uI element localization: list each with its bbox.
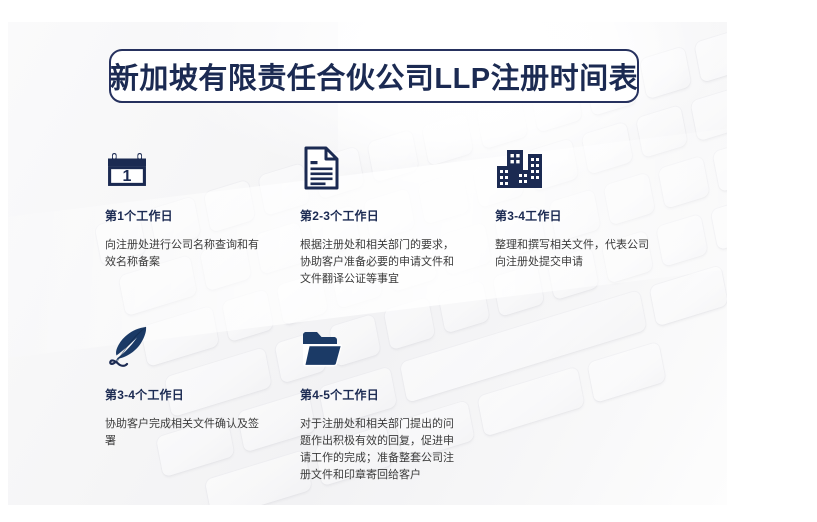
calendar-icon: 1 bbox=[105, 139, 300, 191]
timeline-step-1[interactable]: 1 第1个工作日 向注册处进行公司名称查询和有效名称备案 bbox=[105, 139, 300, 288]
page-title: 新加坡有限责任合伙公司LLP注册时间表 bbox=[110, 55, 638, 97]
document-icon bbox=[300, 139, 495, 191]
step-heading: 第3-4个工作日 bbox=[105, 386, 300, 403]
feather-pen-icon bbox=[105, 318, 300, 370]
step-body: 协助客户完成相关文件确认及签署 bbox=[105, 416, 265, 450]
timeline-row-2: 第3-4个工作日 协助客户完成相关文件确认及签署 第4-5个工作日 对于注册处和… bbox=[105, 318, 705, 484]
timeline-step-3[interactable]: 第3-4工作日 整理和撰写相关文件，代表公司向注册处提交申请 bbox=[495, 139, 690, 288]
timeline-step-placeholder bbox=[495, 318, 690, 484]
folder-icon bbox=[300, 318, 495, 370]
step-heading: 第2-3个工作日 bbox=[300, 207, 495, 224]
step-body: 向注册处进行公司名称查询和有效名称备案 bbox=[105, 237, 265, 271]
step-body: 根据注册处和相关部门的要求，协助客户准备必要的申请文件和文件翻译公证等事宜 bbox=[300, 237, 460, 288]
step-heading: 第3-4工作日 bbox=[495, 207, 690, 224]
timeline-step-5[interactable]: 第4-5个工作日 对于注册处和相关部门提出的问题作出积极有效的回复，促进申请工作… bbox=[300, 318, 495, 484]
page-title-box: 新加坡有限责任合伙公司LLP注册时间表 bbox=[109, 49, 639, 103]
step-body: 整理和撰写相关文件，代表公司向注册处提交申请 bbox=[495, 237, 655, 271]
timeline-step-2[interactable]: 第2-3个工作日 根据注册处和相关部门的要求，协助客户准备必要的申请文件和文件翻… bbox=[300, 139, 495, 288]
timeline-row-1: 1 第1个工作日 向注册处进行公司名称查询和有效名称备案 bbox=[105, 139, 705, 288]
buildings-icon bbox=[495, 139, 690, 191]
infographic-canvas: 新加坡有限责任合伙公司LLP注册时间表 1 bbox=[8, 22, 727, 505]
timeline-step-4[interactable]: 第3-4个工作日 协助客户完成相关文件确认及签署 bbox=[105, 318, 300, 484]
timeline-steps-grid: 1 第1个工作日 向注册处进行公司名称查询和有效名称备案 bbox=[105, 139, 705, 484]
step-heading: 第1个工作日 bbox=[105, 207, 300, 224]
step-body: 对于注册处和相关部门提出的问题作出积极有效的回复，促进申请工作的完成；准备整套公… bbox=[300, 416, 460, 484]
calendar-day-number: 1 bbox=[123, 168, 132, 185]
step-heading: 第4-5个工作日 bbox=[300, 386, 495, 403]
